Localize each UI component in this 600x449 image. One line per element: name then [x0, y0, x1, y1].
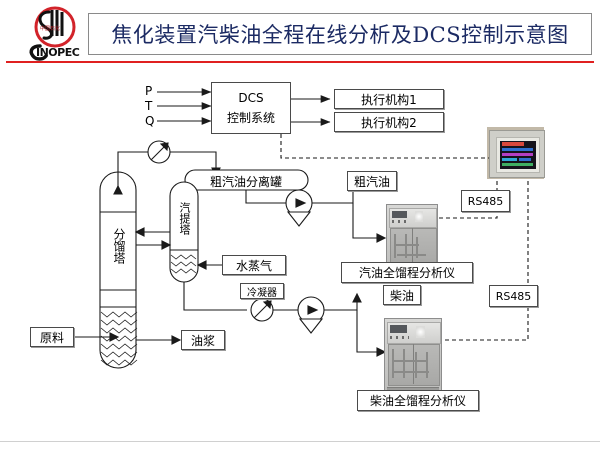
actuator-2-box[interactable]: 执行机构2: [334, 112, 444, 132]
footer-rule: [0, 441, 600, 442]
slurry-label-box: 油浆: [181, 330, 225, 350]
dcs-box-line1: DCS: [238, 91, 263, 105]
condenser-label-box: 冷凝器: [240, 283, 284, 299]
rs485-label-diesel: RS485: [489, 285, 538, 307]
dcs-input-t: T: [145, 99, 152, 113]
page-title: 焦化装置汽柴油全程在线分析及DCS控制示意图: [88, 13, 592, 55]
process-lines-layer: [0, 0, 600, 449]
actuator-1-box[interactable]: 执行机构1: [334, 89, 444, 109]
page-title-text: 焦化装置汽柴油全程在线分析及DCS控制示意图: [111, 19, 568, 49]
dcs-box-line2: 控制系统: [227, 109, 275, 126]
diesel-analyzer-cabinet[interactable]: [384, 318, 442, 396]
fractionator-label: 分馏塔: [111, 228, 125, 268]
steam-label-box: 水蒸气: [222, 255, 286, 275]
rs485-label-gasoline: RS485: [461, 190, 510, 212]
svg-text:中国石化: 中国石化: [40, 25, 60, 32]
separator-label: 粗汽油分离罐: [196, 173, 296, 190]
diagram-canvas: 中国石化 INOPEC 焦化装置汽柴油全程在线分析及DCS控制示意图: [0, 0, 600, 449]
stripper-label: 汽提塔: [177, 202, 191, 239]
header-rule: [6, 61, 594, 63]
crude-gasoline-label-box: 粗汽油: [347, 171, 397, 191]
sinopec-logo: 中国石化 INOPEC: [22, 6, 84, 64]
dcs-input-q: Q: [145, 114, 154, 128]
gasoline-analyzer-label: 汽油全馏程分析仪: [341, 262, 473, 283]
diesel-analyzer-label: 柴油全馏程分析仪: [357, 390, 479, 411]
operator-panel-photo[interactable]: [489, 130, 545, 178]
diesel-label-box: 柴油: [383, 285, 421, 305]
dcs-control-box[interactable]: DCS 控制系统: [211, 82, 291, 134]
dcs-input-p: P: [145, 84, 152, 98]
feed-label-box: 原料: [30, 327, 74, 347]
